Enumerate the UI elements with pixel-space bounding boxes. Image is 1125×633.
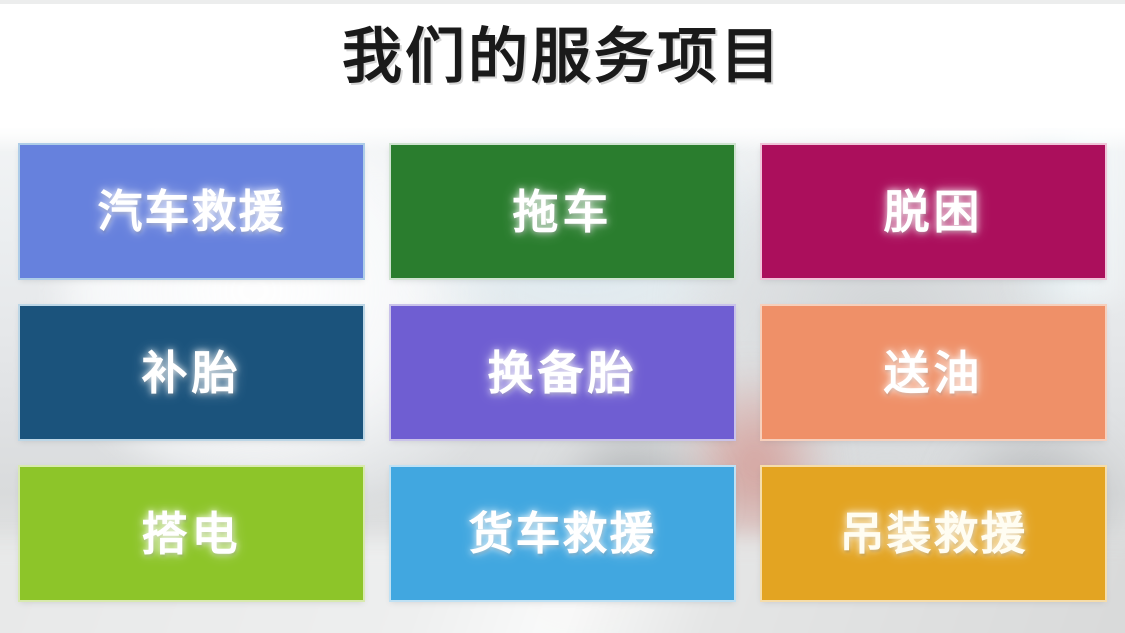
service-tile-label: 拖车 [513,186,613,238]
service-tile-extrication[interactable]: 脱困 [762,145,1105,278]
service-tile-label: 汽车救援 [97,186,285,238]
service-tile-spare-tire-change[interactable]: 换备胎 [391,306,734,439]
service-tile-label: 送油 [884,347,984,399]
service-tile-label: 搭电 [142,508,242,560]
service-tile-truck-rescue[interactable]: 货车救援 [391,467,734,600]
service-tile-label: 补胎 [142,347,242,399]
service-tile-tire-repair[interactable]: 补胎 [20,306,363,439]
service-tile-label: 脱困 [884,186,984,238]
service-tile-towing[interactable]: 拖车 [391,145,734,278]
service-tile-label: 吊装救援 [839,508,1027,560]
service-tile-jump-start[interactable]: 搭电 [20,467,363,600]
service-tile-label: 换备胎 [488,347,638,399]
service-tile-label: 货车救援 [468,508,656,560]
page-title: 我们的服务项目 [0,20,1125,94]
top-edge-divider [0,0,1125,4]
service-tile-car-rescue[interactable]: 汽车救援 [20,145,363,278]
service-tile-crane-rescue[interactable]: 吊装救援 [762,467,1105,600]
service-tile-grid: 汽车救援 拖车 脱困 补胎 换备胎 送油 搭电 货车救援 吊装救援 [20,145,1105,617]
service-tile-fuel-delivery[interactable]: 送油 [762,306,1105,439]
service-items-poster: 我们的服务项目 汽车救援 拖车 脱困 补胎 换备胎 送油 搭电 货车救援 吊装救… [0,0,1125,633]
